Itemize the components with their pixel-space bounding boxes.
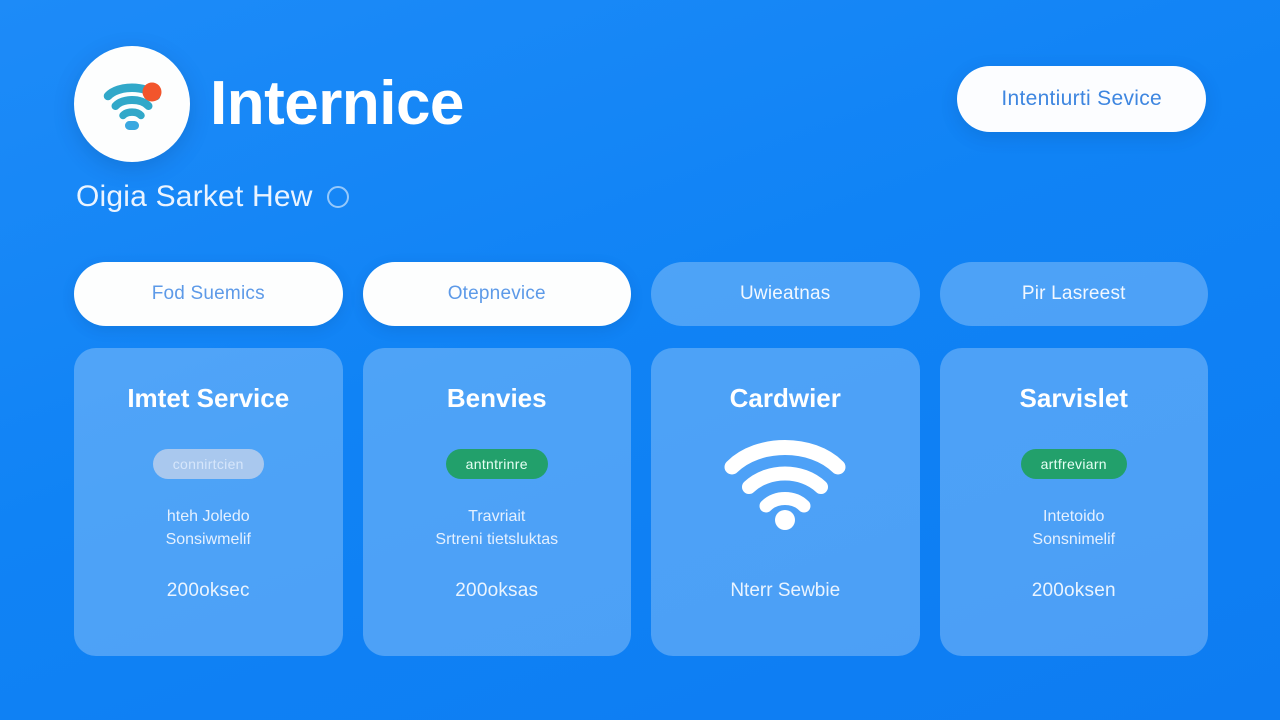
circle-outline-icon [327, 186, 349, 208]
brand-logo [74, 46, 190, 162]
tab-uwieatnas[interactable]: Uwieatnas [651, 262, 920, 326]
tab-fod-suemics[interactable]: Fod Suemics [74, 262, 343, 326]
card-body: Travriait Srtreni tietsluktas [435, 505, 558, 551]
card-title: Cardwier [730, 384, 841, 413]
card-body: Intetoido Sonsnimelif [1032, 505, 1115, 551]
card-title: Imtet Service [127, 384, 289, 413]
service-card-benvies[interactable]: Benvies antntrinre Travriait Srtreni tie… [363, 348, 632, 656]
brand-header: Internice [74, 46, 464, 162]
card-title: Sarvislet [1020, 384, 1128, 413]
service-card-cardwier[interactable]: Cardwier Nterr Sewbie [651, 348, 920, 656]
tab-pir-lasreest[interactable]: Pir Lasreest [940, 262, 1209, 326]
card-body-line-2: Srtreni tietsluktas [435, 528, 558, 551]
status-badge: artfreviarn [1021, 449, 1127, 479]
card-body-line-2: Sonsnimelif [1032, 528, 1115, 551]
card-body-line-1: Intetoido [1032, 505, 1115, 528]
subtitle-row: Oigia Sarket Hew [76, 180, 349, 214]
service-card-imtet[interactable]: Imtet Service connirtcien hteh Joledo So… [74, 348, 343, 656]
app-root: Internice Oigia Sarket Hew Intentiurti S… [0, 0, 1280, 720]
card-body-line-2: Sonsiwmelif [166, 528, 251, 551]
service-card-sarvislet[interactable]: Sarvislet artfreviarn Intetoido Sonsnime… [940, 348, 1209, 656]
card-price: 200oksas [455, 580, 538, 602]
subtitle-text: Oigia Sarket Hew [76, 180, 313, 214]
card-body-line-1: hteh Joledo [166, 505, 251, 528]
tab-otepnevice[interactable]: Otepnevice [363, 262, 632, 326]
status-badge: antntrinre [446, 449, 548, 479]
wifi-logo-icon [96, 68, 168, 140]
page-title: Internice [210, 73, 464, 135]
tab-bar: Fod Suemics Otepnevice Uwieatnas Pir Las… [74, 262, 1208, 326]
card-grid: Imtet Service connirtcien hteh Joledo So… [74, 348, 1208, 656]
card-caption: Nterr Sewbie [730, 580, 840, 602]
status-badge: connirtcien [153, 449, 264, 479]
card-price: 200oksen [1032, 580, 1116, 602]
card-body: hteh Joledo Sonsiwmelif [166, 505, 251, 551]
card-price: 200oksec [167, 580, 250, 602]
card-title: Benvies [447, 384, 547, 413]
header-service-button[interactable]: Intentiurti Sevice [957, 66, 1206, 132]
wifi-icon [724, 435, 846, 531]
card-body-line-1: Travriait [435, 505, 558, 528]
